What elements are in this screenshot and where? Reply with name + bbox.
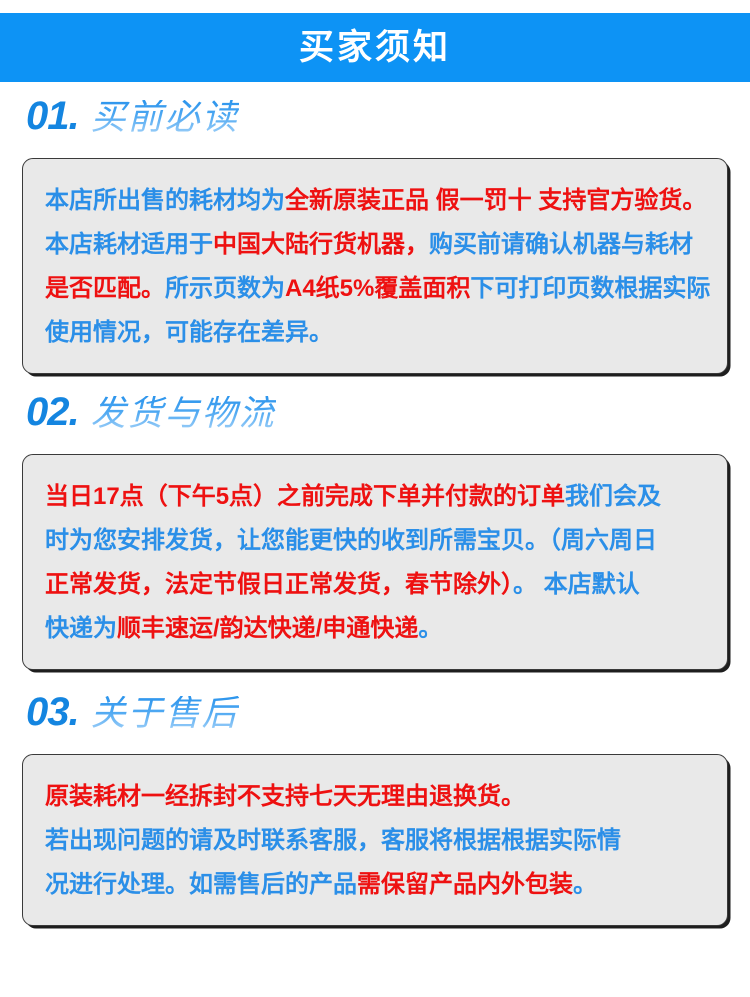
section-title: 买前必读 [91, 100, 239, 135]
section-content-box: 当日17点（下午5点）之前完成下单并付款的订单我们会及时为您安排发货，让您能更快… [22, 454, 728, 670]
notice-line: 时为您安排发货，让您能更快的收到所需宝贝。（周六周日 [45, 519, 705, 563]
notice-line: 况进行处理。如需售后的产品需保留产品内外包装。 [45, 863, 705, 907]
section-number: 01. [26, 96, 79, 136]
section-heading: 01. 买前必读 [0, 96, 750, 158]
section-after-sales: 03. 关于售后 原装耗材一经拆封不支持七天无理由退换货。若出现问题的请及时联系… [0, 692, 750, 926]
body-text: 下可打印页数根据实际 [470, 275, 710, 302]
body-text: 所示页数为 [165, 275, 285, 302]
section-number: 03. [26, 692, 79, 732]
emphasis-text: 全新原装正品 假一罚十 支持官方验货。 [285, 187, 706, 214]
body-text: 。 [573, 871, 597, 898]
emphasis-text: 正常发货，法定节假日正常发货，春节除外） [45, 571, 513, 598]
body-text: 若出现问题的请及时联系客服，客服将根据根据实际情 [45, 827, 621, 854]
notice-line: 本店耗材适用于中国大陆行货机器，购买前请确认机器与耗材 [45, 223, 705, 267]
section-title: 发货与物流 [91, 396, 276, 431]
body-text: 。 [418, 615, 442, 642]
body-text: 。 本店默认 [513, 571, 640, 598]
notice-line: 若出现问题的请及时联系客服，客服将根据根据实际情 [45, 819, 705, 863]
body-text: 本店所出售的耗材均为 [45, 187, 285, 214]
body-text: 况进行处理。如需售后的产品 [45, 871, 357, 898]
section-buy-before-reading: 01. 买前必读 本店所出售的耗材均为全新原装正品 假一罚十 支持官方验货。本店… [0, 96, 750, 374]
emphasis-text: 需保留产品内外包装 [357, 871, 573, 898]
body-text: 快递为 [45, 615, 117, 642]
section-heading: 03. 关于售后 [0, 692, 750, 754]
emphasis-text: 原装耗材一经拆封不支持七天无理由退换货。 [45, 783, 525, 810]
notice-line: 当日17点（下午5点）之前完成下单并付款的订单我们会及 [45, 475, 705, 519]
notice-line: 原装耗材一经拆封不支持七天无理由退换货。 [45, 775, 705, 819]
emphasis-text: 中国大陆行货机器， [213, 231, 429, 258]
section-content-box: 本店所出售的耗材均为全新原装正品 假一罚十 支持官方验货。本店耗材适用于中国大陆… [22, 158, 728, 374]
emphasis-text: 是否匹配。 [45, 275, 165, 302]
section-title: 关于售后 [91, 696, 239, 731]
notice-line: 正常发货，法定节假日正常发货，春节除外）。 本店默认 [45, 563, 705, 607]
emphasis-text: A4纸5%覆盖面积 [285, 275, 470, 302]
emphasis-text: 当日17点（下午5点）之前完成下单并付款的订单 [45, 483, 565, 510]
body-text: 时为您安排发货，让您能更快的收到所需宝贝。（周六周日 [45, 527, 657, 554]
page-banner: 买家须知 [0, 13, 750, 82]
notice-line: 使用情况，可能存在差异。 [45, 311, 705, 355]
notice-line: 本店所出售的耗材均为全新原装正品 假一罚十 支持官方验货。 [45, 179, 705, 223]
section-content-box: 原装耗材一经拆封不支持七天无理由退换货。若出现问题的请及时联系客服，客服将根据根… [22, 754, 728, 926]
section-heading: 02. 发货与物流 [0, 392, 750, 454]
section-number: 02. [26, 392, 79, 432]
notice-line: 快递为顺丰速运/韵达快递/申通快递。 [45, 607, 705, 651]
page-title: 买家须知 [299, 30, 451, 65]
emphasis-text: 顺丰速运/韵达快递/申通快递 [117, 615, 418, 642]
section-shipping-logistics: 02. 发货与物流 当日17点（下午5点）之前完成下单并付款的订单我们会及时为您… [0, 392, 750, 670]
body-text: 使用情况，可能存在差异。 [45, 319, 333, 346]
body-text: 本店耗材适用于 [45, 231, 213, 258]
notice-line: 是否匹配。所示页数为A4纸5%覆盖面积下可打印页数根据实际 [45, 267, 705, 311]
body-text: 我们会及 [565, 483, 661, 510]
body-text: 购买前请确认机器与耗材 [429, 231, 693, 258]
